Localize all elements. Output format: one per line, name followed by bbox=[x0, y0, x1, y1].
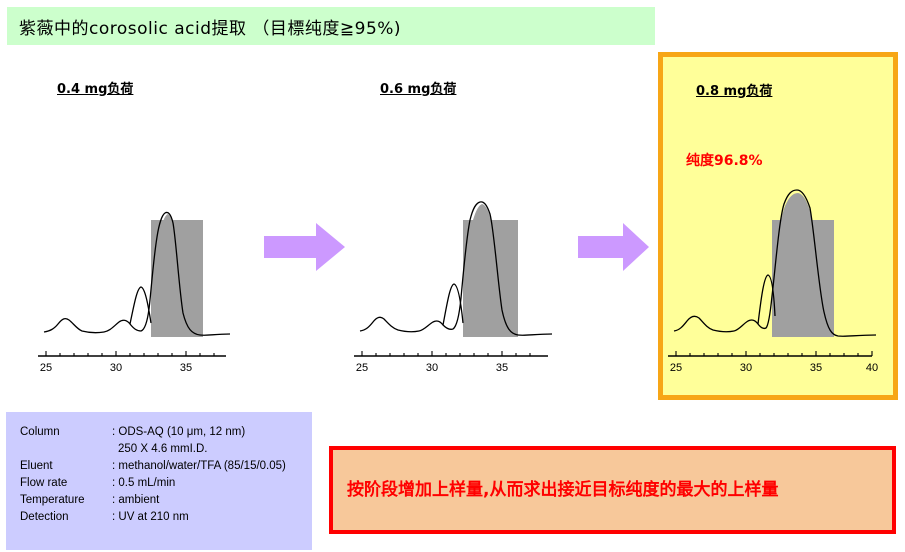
panel-1-tick-35: 35 bbox=[180, 362, 192, 374]
panel-3-load-label: 0.8 mg负荷 bbox=[696, 80, 772, 99]
condition-row-temperature: Temperature : ambient bbox=[20, 492, 312, 509]
condition-column-continuation: 250 X 4.6 mmI.D. bbox=[20, 441, 312, 458]
panel-2-tick-30: 30 bbox=[426, 362, 438, 374]
panel-1-chromatogram-svg bbox=[42, 110, 232, 358]
condition-key-temperature: Temperature bbox=[20, 492, 112, 509]
analysis-conditions-box: Column : ODS-AQ (10 μm, 12 nm) 250 X 4.6… bbox=[6, 412, 312, 550]
panel-3-axis bbox=[666, 350, 882, 364]
panel-2-tick-35: 35 bbox=[496, 362, 508, 374]
condition-key-eluent: Eluent bbox=[20, 458, 112, 475]
panel-1-tick-25: 25 bbox=[40, 362, 52, 374]
condition-value-column: : ODS-AQ (10 μm, 12 nm) bbox=[112, 424, 312, 441]
panel-3-tick-25: 25 bbox=[670, 362, 682, 374]
condition-key-flow-rate: Flow rate bbox=[20, 475, 112, 492]
panel-2-axis bbox=[352, 350, 558, 364]
conclusion-text: 按阶段增加上样量,从而求出接近目标纯度的最大的上样量 bbox=[333, 476, 792, 504]
panel-1-axis bbox=[36, 350, 236, 364]
panel-2-chromatogram-svg bbox=[358, 110, 554, 358]
condition-row-column: Column : ODS-AQ (10 μm, 12 nm) bbox=[20, 424, 312, 441]
condition-value-detection: : UV at 210 nm bbox=[112, 509, 312, 526]
panel-2-trace-line bbox=[360, 202, 552, 335]
conclusion-box: 按阶段增加上样量,从而求出接近目标纯度的最大的上样量 bbox=[329, 446, 896, 534]
page-title: 紫薇中的corosolic acid提取 （目標纯度≧95%) bbox=[7, 14, 401, 39]
condition-value-flow-rate: : 0.5 mL/min bbox=[112, 475, 312, 492]
panel-2-tick-25: 25 bbox=[356, 362, 368, 374]
panel-3-tick-35: 35 bbox=[810, 362, 822, 374]
slide-title-banner: 紫薇中的corosolic acid提取 （目標纯度≧95%) bbox=[6, 6, 656, 46]
condition-key-detection: Detection bbox=[20, 509, 112, 526]
panel-3-chromatogram-svg bbox=[672, 110, 878, 358]
panel-1-load-label: 0.4 mg负荷 bbox=[57, 78, 133, 97]
panel-1-plot-area bbox=[42, 110, 232, 358]
panel-3-tick-40: 40 bbox=[866, 362, 878, 374]
panel-3-tick-30: 30 bbox=[740, 362, 752, 374]
arrow-2-icon bbox=[578, 222, 650, 272]
panel-3-plot-area bbox=[672, 110, 878, 358]
condition-row-eluent: Eluent : methanol/water/TFA (85/15/0.05) bbox=[20, 458, 312, 475]
panel-1-tick-30: 30 bbox=[110, 362, 122, 374]
condition-row-detection: Detection : UV at 210 nm bbox=[20, 509, 312, 526]
condition-row-flow-rate: Flow rate : 0.5 mL/min bbox=[20, 475, 312, 492]
arrow-1-icon bbox=[264, 222, 346, 272]
condition-value-temperature: : ambient bbox=[112, 492, 312, 509]
panel-2-plot-area bbox=[358, 110, 554, 358]
condition-key-column: Column bbox=[20, 424, 112, 441]
panel-2-load-label: 0.6 mg负荷 bbox=[380, 78, 456, 97]
condition-value-eluent: : methanol/water/TFA (85/15/0.05) bbox=[112, 458, 312, 475]
